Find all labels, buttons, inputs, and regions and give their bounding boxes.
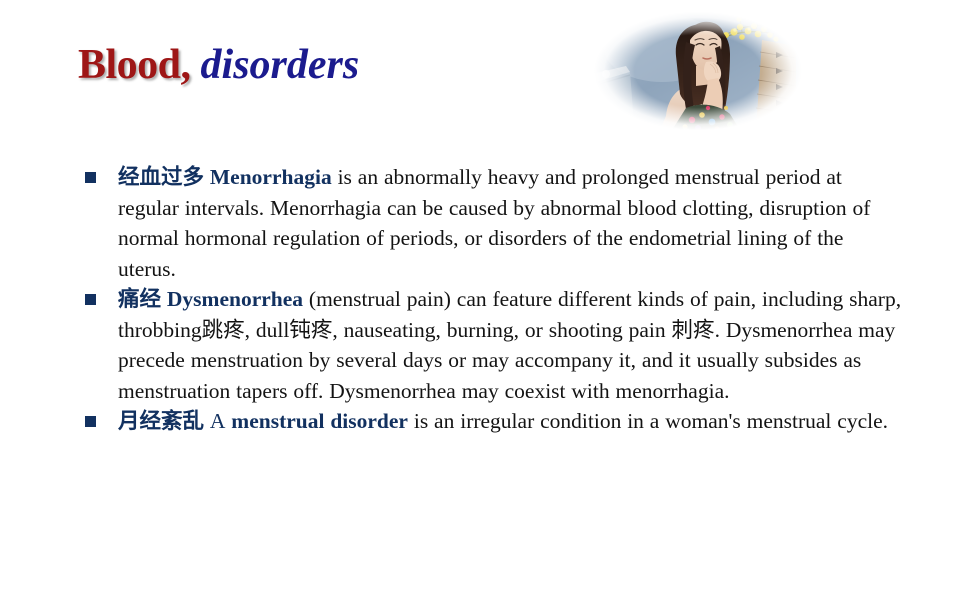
photo-illustration bbox=[590, 12, 806, 130]
term-chinese: 月经紊乱 bbox=[118, 409, 204, 433]
term-chinese: 痛经 bbox=[118, 287, 161, 311]
inline-chinese-dull: 钝疼 bbox=[289, 318, 332, 342]
term-english: Dysmenorrhea bbox=[161, 287, 303, 311]
square-bullet-icon bbox=[85, 416, 96, 427]
list-item: 经血过多 Menorrhagia is an abnormally heavy … bbox=[0, 162, 960, 284]
list-item: 痛经 Dysmenorrhea (menstrual pain) can fea… bbox=[0, 284, 960, 406]
inline-chinese-shooting: 刺疼 bbox=[672, 318, 715, 342]
term-english: Menorrhagia bbox=[204, 165, 332, 189]
bullet-body-part2: , dull bbox=[245, 318, 290, 342]
bullet-body: is an irregular condition in a woman's m… bbox=[408, 409, 888, 433]
term-chinese: 经血过多 bbox=[118, 165, 204, 189]
term-english: menstrual disorder bbox=[225, 409, 408, 433]
bullet-text-dysmenorrhea: 痛经 Dysmenorrhea (menstrual pain) can fea… bbox=[118, 284, 902, 406]
slide-canvas: Blood,disorders bbox=[0, 0, 960, 600]
inline-chinese-throbbing: 跳疼 bbox=[202, 318, 245, 342]
bullet-text-menorrhagia: 经血过多 Menorrhagia is an abnormally heavy … bbox=[118, 162, 902, 284]
title-word-disorders: disorders bbox=[201, 42, 360, 88]
term-article: A bbox=[204, 409, 225, 433]
title-word-blood: Blood, bbox=[78, 42, 191, 88]
square-bullet-icon bbox=[85, 294, 96, 305]
bullet-body-part3: , nauseating, burning, or shooting pain bbox=[332, 318, 671, 342]
pensive-woman-photo bbox=[590, 12, 806, 130]
bullet-list: 经血过多 Menorrhagia is an abnormally heavy … bbox=[0, 162, 960, 437]
square-bullet-icon bbox=[85, 172, 96, 183]
list-item: 月经紊乱 A menstrual disorder is an irregula… bbox=[0, 406, 960, 437]
bullet-text-menstrual-disorder: 月经紊乱 A menstrual disorder is an irregula… bbox=[118, 406, 902, 437]
page-title: Blood,disorders bbox=[78, 44, 359, 86]
photo-image-area bbox=[590, 12, 806, 130]
